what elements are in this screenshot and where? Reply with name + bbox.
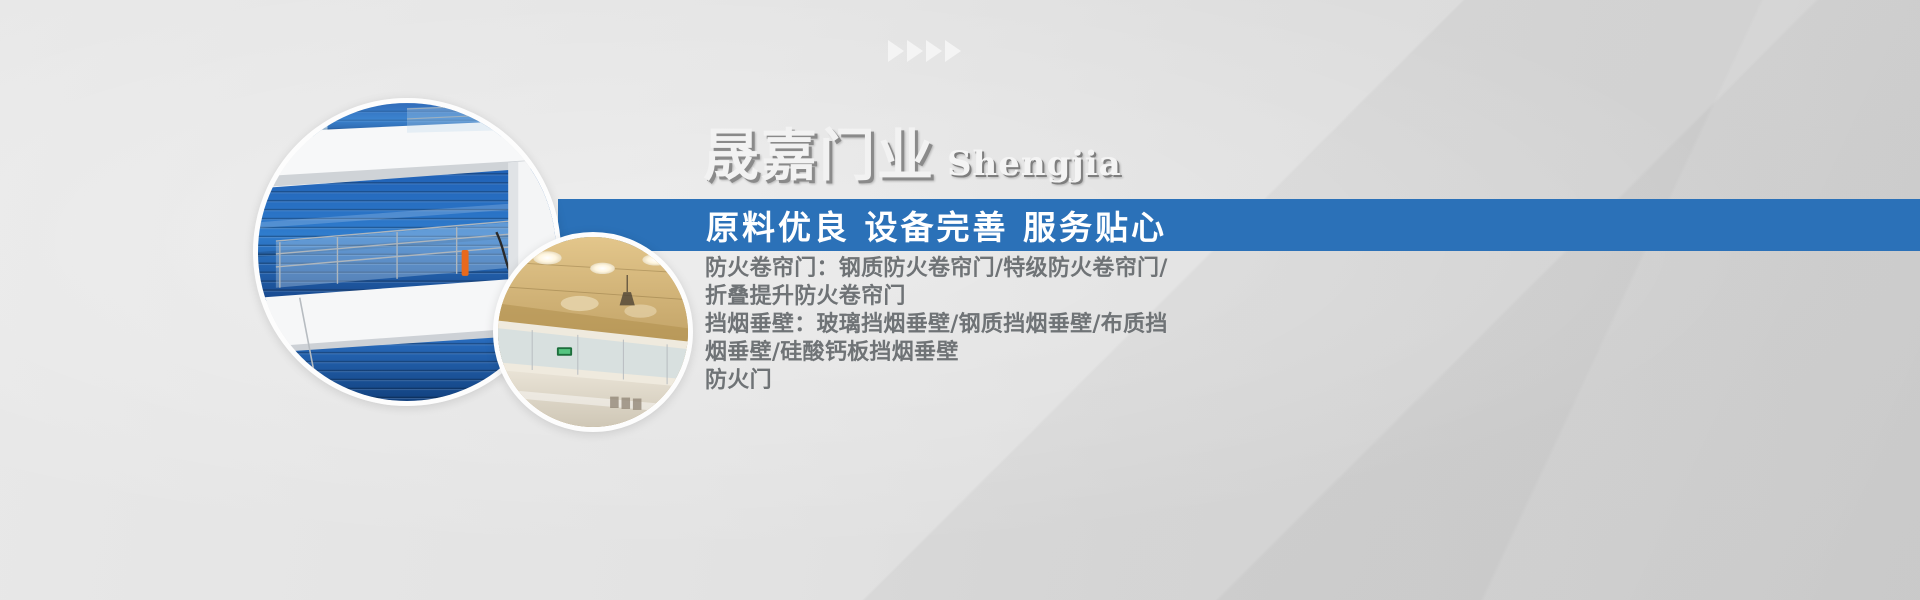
triangle-right-icon [907, 40, 923, 62]
promo-banner: 原料优良 设备完善 服务贴心 [0, 0, 1920, 600]
interior-photo-illustration [498, 237, 688, 427]
company-title-cn: 晟嘉门业 [703, 128, 935, 184]
description-line: 挡烟垂壁：玻璃挡烟垂壁/钢质挡烟垂壁/布质挡 [705, 310, 1325, 338]
triangle-right-icon [926, 40, 942, 62]
description-line: 防火卷帘门：钢质防火卷帘门/特级防火卷帘门/ [705, 254, 1325, 282]
product-description: 防火卷帘门：钢质防火卷帘门/特级防火卷帘门/ 折叠提升防火卷帘门 挡烟垂壁：玻璃… [705, 254, 1325, 394]
description-line: 烟垂壁/硅酸钙板挡烟垂壁 [705, 338, 1325, 366]
description-line: 防火门 [705, 366, 1325, 394]
slogan-text: 原料优良 设备完善 服务贴心 [706, 201, 1167, 249]
photo-circle-interior [493, 232, 693, 432]
description-line: 折叠提升防火卷帘门 [705, 282, 1325, 310]
triangle-right-icon [945, 40, 961, 62]
company-title-en: Shengjia [947, 147, 1122, 181]
arrow-group [888, 40, 961, 62]
triangle-right-icon [888, 40, 904, 62]
slogan-bar: 原料优良 设备完善 服务贴心 [558, 199, 1920, 251]
company-title: 晟嘉门业 Shengjia [703, 128, 1122, 184]
